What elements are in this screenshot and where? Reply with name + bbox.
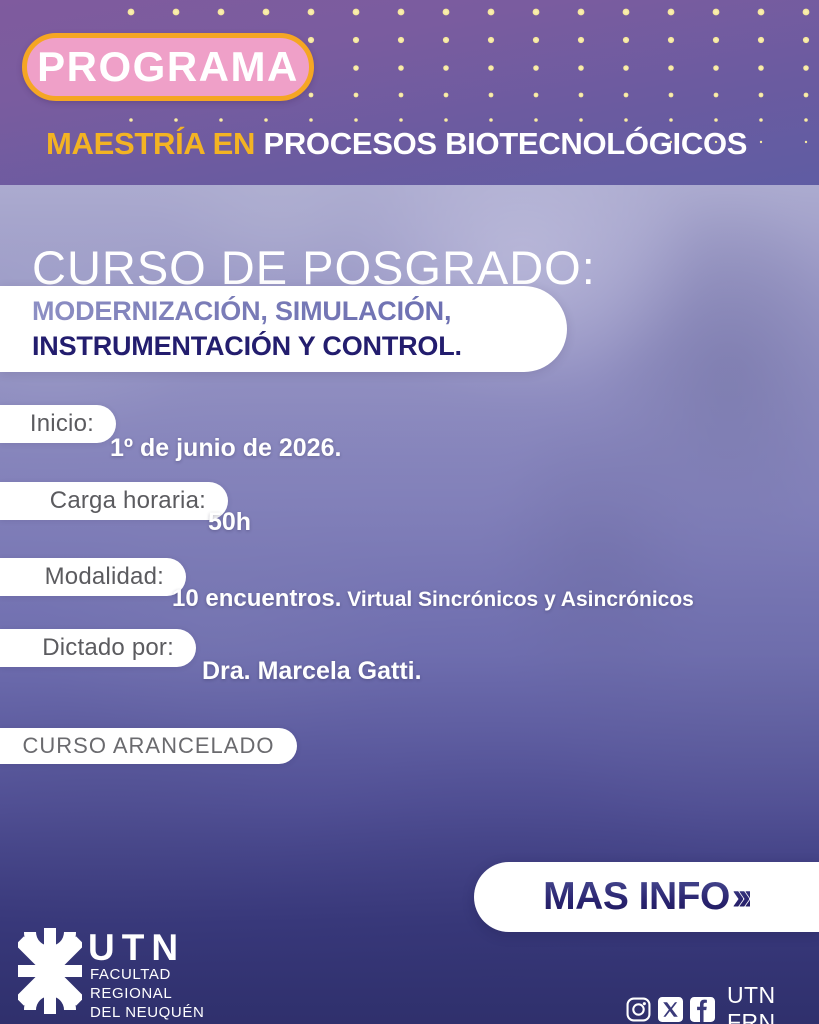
arancelado-pill: CURSO ARANCELADO xyxy=(0,728,297,764)
utn-wordmark: UTN xyxy=(88,930,204,965)
instagram-icon[interactable] xyxy=(626,997,651,1022)
course-title-line1: MODERNIZACIÓN, SIMULACIÓN, xyxy=(32,296,451,327)
detail-label-modalidad: Modalidad: xyxy=(45,563,164,591)
utn-logo-text: UTN FACULTAD REGIONAL DEL NEUQUÉN xyxy=(88,928,204,1022)
poster-root: PROGRAMA MAESTRÍA EN PROCESOS BIOTECNOLÓ… xyxy=(0,0,819,1024)
course-title-line2: INSTRUMENTACIÓN Y CONTROL. xyxy=(32,331,462,362)
programa-badge-label: PROGRAMA xyxy=(37,43,299,91)
utn-sun-icon xyxy=(18,928,82,1014)
utn-faculty-line1: FACULTAD xyxy=(90,967,204,984)
social-links: UTN FRN xyxy=(626,982,819,1024)
program-subtitle: MAESTRÍA EN PROCESOS BIOTECNOLÓGICOS xyxy=(46,126,747,162)
facebook-icon[interactable] xyxy=(690,997,715,1022)
utn-logo: UTN FACULTAD REGIONAL DEL NEUQUÉN xyxy=(18,928,204,1022)
detail-label-pill-dictado-por: Dictado por: xyxy=(0,629,196,667)
mas-info-button[interactable]: MAS INFO››› xyxy=(474,862,819,932)
detail-label-inicio: Inicio: xyxy=(30,410,94,438)
detail-label-pill-inicio: Inicio: xyxy=(0,405,116,443)
detail-label-pill-modalidad: Modalidad: xyxy=(0,558,186,596)
detail-value-inicio: 1º de junio de 2026. xyxy=(110,434,341,463)
detail-label-dictado-por: Dictado por: xyxy=(42,634,174,662)
chevron-right-icon: ››› xyxy=(732,875,750,919)
detail-label-pill-carga-horaria: Carga horaria: xyxy=(0,482,228,520)
detail-value-dictado-por: Dra. Marcela Gatti. xyxy=(202,657,422,686)
detail-label-carga-horaria: Carga horaria: xyxy=(50,487,206,515)
program-subtitle-rest: PROCESOS BIOTECNOLÓGICOS xyxy=(263,126,747,161)
detail-value-modalidad-rest: Virtual Sincrónicos y Asincrónicos xyxy=(341,588,693,611)
detail-value-carga-horaria: 50h xyxy=(208,508,251,537)
utn-faculty-line3: DEL NEUQUÉN xyxy=(90,1005,204,1022)
mas-info-label: MAS INFO xyxy=(543,875,730,919)
programa-badge: PROGRAMA xyxy=(22,33,314,101)
x-twitter-icon[interactable] xyxy=(658,997,683,1022)
detail-value-modalidad: 10 encuentros. Virtual Sincrónicos y Asi… xyxy=(172,585,694,613)
detail-value-modalidad-strong: 10 encuentros. xyxy=(172,585,341,612)
arancelado-label: CURSO ARANCELADO xyxy=(23,733,275,759)
social-handle-label: UTN FRN xyxy=(727,982,819,1024)
utn-faculty-line2: REGIONAL xyxy=(90,986,204,1003)
program-subtitle-highlight: MAESTRÍA EN xyxy=(46,126,255,161)
header-band: PROGRAMA MAESTRÍA EN PROCESOS BIOTECNOLÓ… xyxy=(0,0,819,185)
